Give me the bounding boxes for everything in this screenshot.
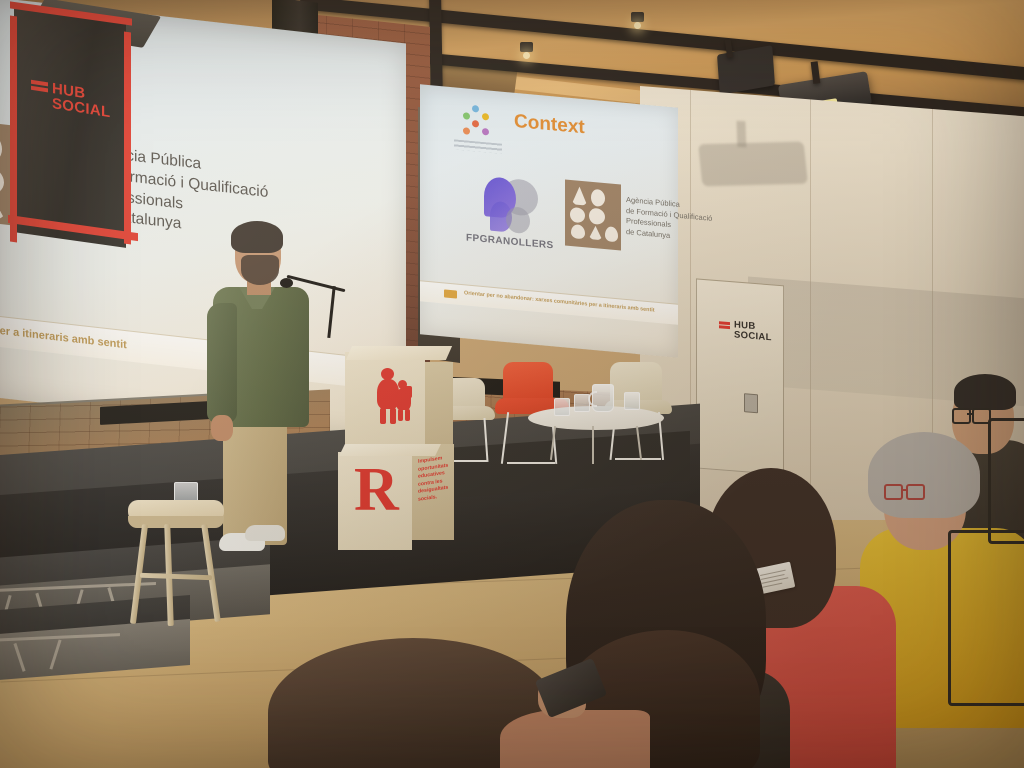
two-people-walking-icon	[371, 368, 415, 426]
cardboard-box-lower: R Impulsem oportunitats educatives contr…	[338, 442, 458, 552]
hub-bars-icon-podium	[31, 80, 48, 92]
slide-right-footer-text: Orientar per no abandonar: xarxes comuni…	[464, 290, 655, 313]
slide-right-footer: Orientar per no abandonar: xarxes comuni…	[420, 280, 678, 324]
fpcat-logo-right	[565, 179, 621, 250]
gencat-logo-caption	[454, 139, 502, 153]
box-claim-text: Impulsem oportunitats educatives contra …	[418, 453, 458, 504]
attendee-foreground-right-shoulder	[500, 710, 650, 768]
slide-right-title: Context	[514, 111, 585, 139]
door-card-reader[interactable]	[744, 393, 758, 413]
lectern-hub-social: HUB SOCIAL	[0, 0, 150, 250]
door-hub-line2: SOCIAL	[734, 330, 772, 342]
glass-1[interactable]	[554, 398, 570, 416]
speaker-hair	[231, 221, 283, 253]
slide-right-footer-mark	[444, 289, 457, 298]
glass-3[interactable]	[624, 392, 640, 410]
gencat-logo-icon	[460, 104, 494, 141]
speaker-beard	[241, 255, 279, 285]
lectern-frame-left	[10, 16, 17, 243]
door-hub-social-logo: HUB SOCIAL	[719, 319, 772, 342]
wooden-stool	[128, 500, 228, 630]
track-light-5	[520, 42, 533, 52]
speaker-hand	[211, 415, 233, 441]
glass-2[interactable]	[574, 394, 590, 412]
door-hub-social[interactable]: HUB SOCIAL	[696, 278, 784, 475]
microphone-capsule-icon	[280, 278, 293, 288]
conference-photo: HUB SOCIAL Agència Pública de Formació i…	[0, 0, 1024, 768]
projector-shadow	[698, 141, 808, 186]
lectern-frame-right	[124, 32, 131, 245]
attendee-yellow-top-red-glasses	[884, 484, 932, 498]
audience-chair-back-1	[948, 530, 1024, 706]
speaker-shoe-right	[245, 525, 285, 541]
lectern-front-panel	[14, 4, 126, 248]
water-jug[interactable]	[592, 384, 614, 412]
speaker-arm	[207, 303, 237, 423]
projector-mount	[811, 61, 821, 84]
coffee-table	[528, 406, 664, 458]
hub-bars-icon	[719, 321, 730, 328]
attendee-back-right-hair	[954, 374, 1016, 410]
projection-screen-right: Context FPGRANOLLERS Agència Pública de …	[420, 84, 678, 357]
track-light-6	[631, 12, 644, 22]
slide-left-footer-text: unitàries per a itineraris amb sentit	[0, 319, 127, 352]
audience-chair-back-2	[988, 418, 1024, 544]
attendee-foreground-right	[500, 630, 740, 768]
box-letter-r: R	[354, 464, 399, 517]
